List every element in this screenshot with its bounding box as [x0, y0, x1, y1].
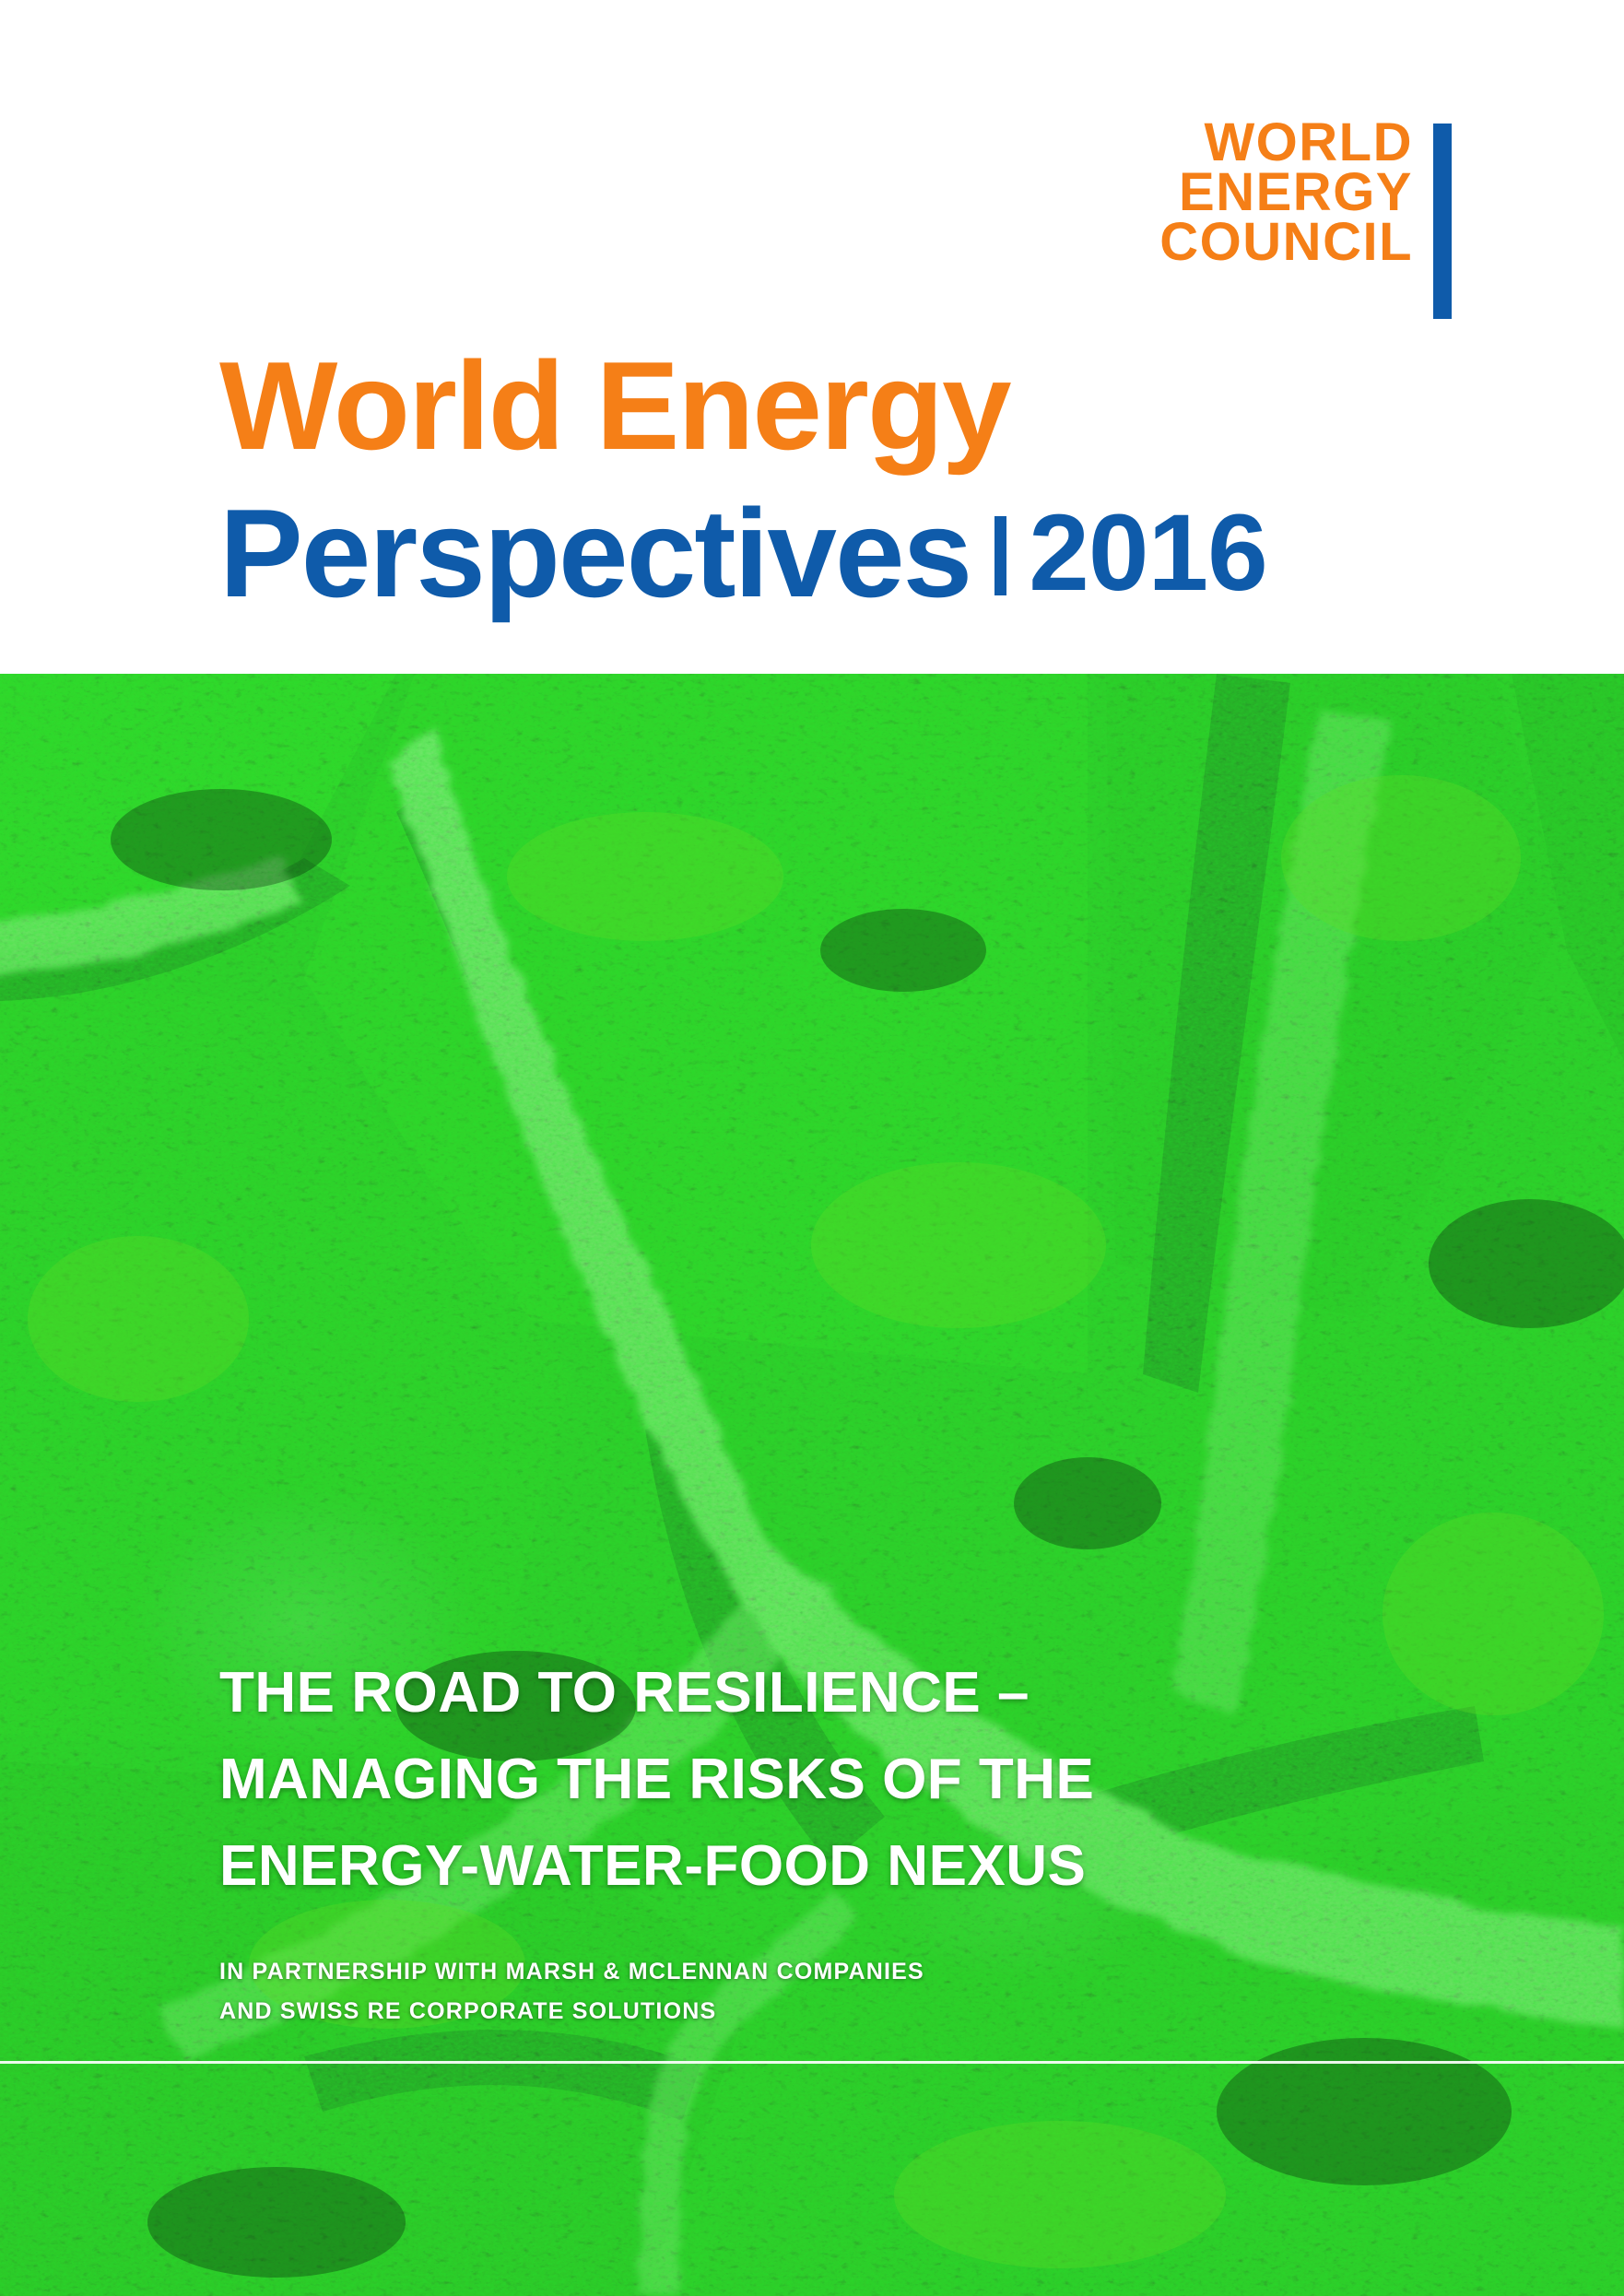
page-title: World Energy Perspectives 2016 [219, 343, 1267, 616]
title-word-perspectives: Perspectives [219, 490, 971, 616]
title-line-world-energy: World Energy [219, 343, 1267, 468]
credit-line-1: IN PARTNERSHIP WITH MARSH & MCLENNAN COM… [219, 1960, 924, 1984]
cover-header: WORLD ENERGY COUNCIL World Energy Perspe… [0, 0, 1624, 674]
logo-line-world: WORLD [1204, 118, 1413, 168]
logo-blue-bar-icon [1433, 124, 1452, 319]
logo-wordmark: WORLD ENERGY COUNCIL [1159, 118, 1413, 267]
title-year: 2016 [1029, 499, 1267, 607]
logo-line-council: COUNCIL [1159, 218, 1413, 267]
report-cover-page: WORLD ENERGY COUNCIL World Energy Perspe… [0, 0, 1624, 2296]
subtitle-line-2: MANAGING THE RISKS OF THE [219, 1751, 1094, 1808]
report-subtitle: THE ROAD TO RESILIENCE – MANAGING THE RI… [219, 1665, 1094, 1925]
logo-line-energy: ENERGY [1179, 168, 1413, 218]
credit-line-2: AND SWISS RE CORPORATE SOLUTIONS [219, 2000, 924, 2023]
aerial-landscape-illustration [0, 674, 1624, 2296]
cover-photograph [0, 674, 1624, 2296]
subtitle-line-3: ENERGY-WATER-FOOD NEXUS [219, 1838, 1094, 1895]
partnership-credit: IN PARTNERSHIP WITH MARSH & MCLENNAN COM… [219, 1960, 924, 2040]
title-separator-bar-icon [994, 516, 1006, 595]
horizontal-divider [0, 2061, 1624, 2064]
world-energy-council-logo: WORLD ENERGY COUNCIL [1159, 118, 1452, 319]
subtitle-line-1: THE ROAD TO RESILIENCE – [219, 1665, 1094, 1722]
title-line-perspectives-year: Perspectives 2016 [219, 490, 1267, 616]
